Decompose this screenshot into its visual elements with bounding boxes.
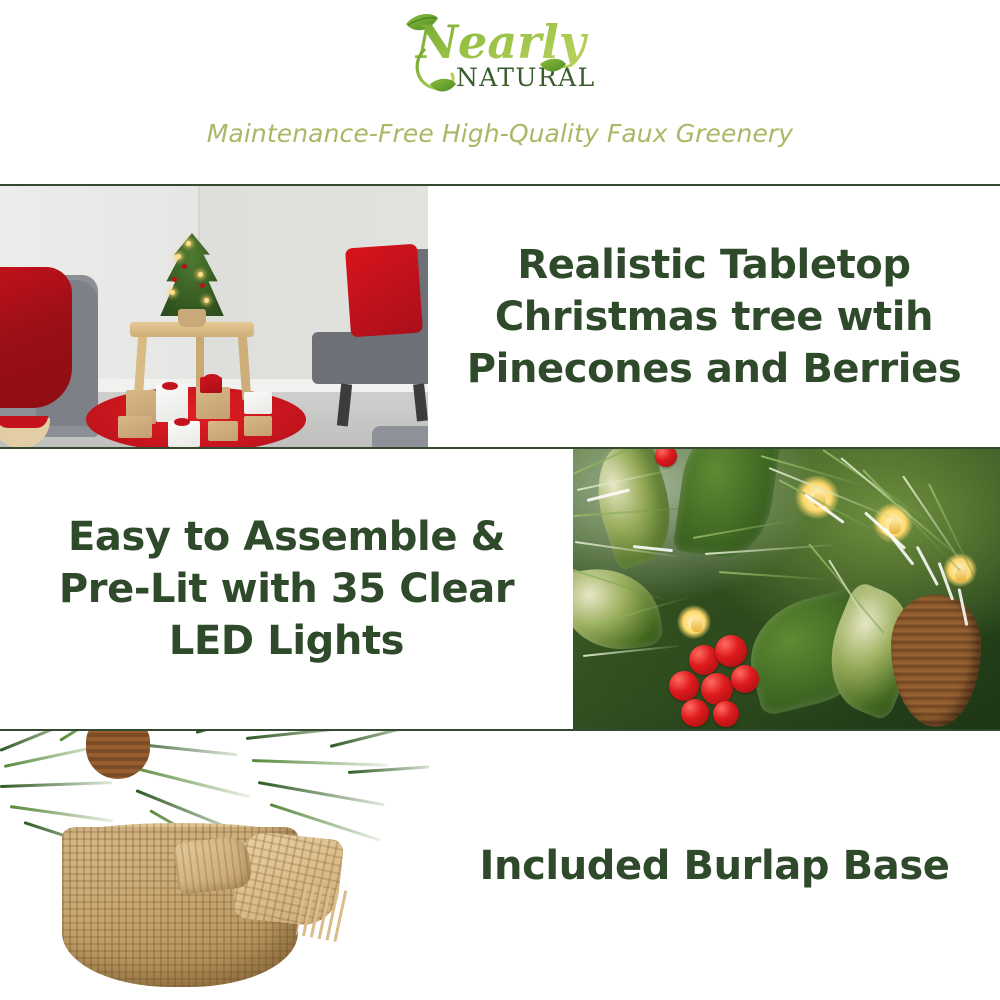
feature-2-headline-line-2: Pre-Lit with 35 Clear (59, 563, 514, 615)
red-berry (681, 699, 709, 727)
product-infographic: Nearly NATURAL Maintenance-Free High-Qua… (0, 0, 1000, 1000)
feature-1-headline-line-3: Pinecones and Berries (467, 343, 962, 395)
led-bulb (889, 519, 901, 534)
feature-1-headline: Realistic Tabletop Christmas tree wtih P… (449, 239, 980, 395)
burlap-bow-fringe (296, 883, 350, 942)
feature-row-1: Realistic Tabletop Christmas tree wtih P… (0, 186, 1000, 447)
red-berry (715, 635, 747, 667)
feature-2-text-cell: Easy to Assemble & Pre-Lit with 35 Clear… (0, 449, 573, 729)
burlap-bow-knot (173, 835, 253, 896)
feature-3-headline: Included Burlap Base (462, 840, 968, 892)
foliage-closeup-illustration (573, 449, 1000, 729)
feature-1-headline-line-1: Realistic Tabletop (467, 239, 962, 291)
feature-2-headline-line-3: LED Lights (59, 615, 514, 667)
feature-3-headline-line-1: Included Burlap Base (480, 840, 950, 892)
pinecone (86, 731, 150, 779)
feature-row-2: Easy to Assemble & Pre-Lit with 35 Clear… (0, 449, 1000, 729)
feature-1-headline-line-2: Christmas tree wtih (467, 291, 962, 343)
led-bulb (691, 617, 703, 632)
feature-1-photo (0, 186, 428, 447)
logo-svg: Nearly NATURAL (390, 6, 610, 106)
feature-2-headline: Easy to Assemble & Pre-Lit with 35 Clear… (41, 511, 532, 667)
feature-row-3: Included Burlap Base (0, 731, 1000, 1000)
nearly-natural-logo: Nearly NATURAL (0, 4, 1000, 108)
feature-3-photo (0, 731, 429, 1000)
brand-tagline: Maintenance-Free High-Quality Faux Green… (0, 119, 1000, 148)
red-pillow-shape (345, 244, 423, 338)
brand-header: Nearly NATURAL Maintenance-Free High-Qua… (0, 0, 1000, 185)
feature-1-text-cell: Realistic Tabletop Christmas tree wtih P… (428, 186, 1000, 447)
feature-3-text-cell: Included Burlap Base (429, 731, 1000, 1000)
burlap-base-illustration (0, 731, 429, 1000)
living-room-scene-illustration (0, 186, 428, 447)
logo-wordmark-text: NATURAL (456, 63, 596, 92)
feature-2-headline-line-1: Easy to Assemble & (59, 511, 514, 563)
red-berry (713, 701, 739, 727)
pinecone (891, 595, 981, 727)
red-berry (655, 449, 677, 467)
feature-2-photo (573, 449, 1000, 729)
red-berry (669, 671, 699, 701)
red-berry (731, 665, 759, 693)
red-throw-shape (0, 267, 72, 408)
